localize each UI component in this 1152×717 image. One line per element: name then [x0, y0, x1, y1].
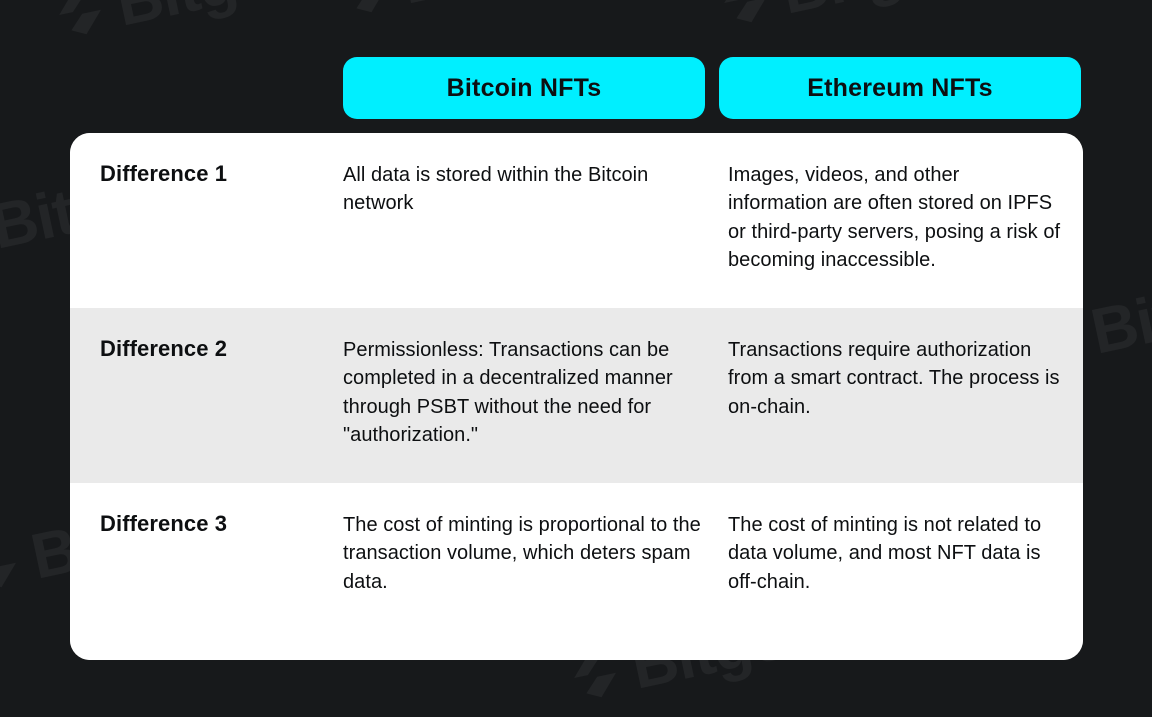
cell-bitcoin: The cost of minting is proportional to t… — [343, 483, 728, 596]
row-label: Difference 1 — [70, 133, 343, 187]
row-label: Difference 3 — [70, 483, 343, 537]
bitget-logo-icon — [47, 0, 113, 46]
cell-bitcoin: Permissionless: Transactions can be comp… — [343, 308, 728, 450]
bitget-logo-icon — [0, 532, 28, 598]
column-header-ethereum: Ethereum NFTs — [719, 57, 1081, 119]
bitget-logo-icon — [712, 0, 778, 34]
watermark-text: Bitget — [775, 0, 962, 29]
cell-ethereum: Transactions require authorization from … — [728, 308, 1083, 421]
watermark-text: Bitget — [110, 0, 297, 41]
column-headers: Bitcoin NFTs Ethereum NFTs — [343, 57, 1081, 119]
row-label: Difference 2 — [70, 308, 343, 362]
column-header-bitcoin: Bitcoin NFTs — [343, 57, 705, 119]
table-row: Difference 2 Permissionless: Transaction… — [70, 308, 1083, 483]
comparison-table-card: Difference 1 All data is stored within t… — [70, 133, 1083, 660]
bitget-logo-icon — [332, 0, 398, 24]
cell-ethereum: Images, videos, and other information ar… — [728, 133, 1083, 275]
comparison-infographic: Bitget Bitget Bitget — [0, 0, 1152, 717]
cell-ethereum: The cost of minting is not related to da… — [728, 483, 1083, 596]
bitget-watermark: Bitget — [710, 0, 961, 42]
bitget-watermark: Bitget — [45, 0, 296, 54]
table-row: Difference 3 The cost of minting is prop… — [70, 483, 1083, 660]
bitget-watermark: Bitget — [330, 0, 581, 32]
table-row: Difference 1 All data is stored within t… — [70, 133, 1083, 308]
watermark-text: Bitget — [395, 0, 582, 19]
watermark-text: Bitget — [1085, 260, 1152, 369]
cell-bitcoin: All data is stored within the Bitcoin ne… — [343, 133, 728, 218]
